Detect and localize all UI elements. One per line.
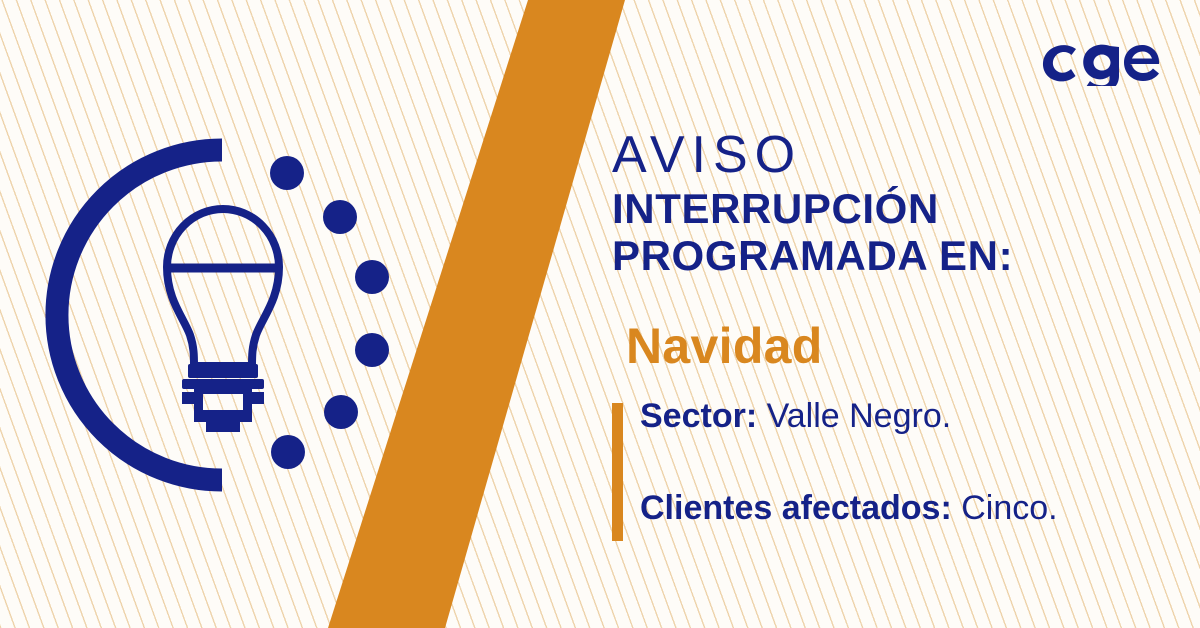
notice-headline-line2: PROGRAMADA EN: — [612, 232, 1182, 279]
detail-row-sector: Sector: Valle Negro. — [640, 399, 1182, 435]
detail-value-sector: Valle Negro. — [767, 397, 952, 435]
detail-label-clientes: Clientes afectados: — [640, 489, 952, 527]
signal-dots-icon — [270, 156, 389, 469]
notice-kicker: AVISO — [612, 130, 1182, 181]
light-bulb-base-icon — [182, 364, 264, 432]
detail-value-clientes: Cinco. — [961, 489, 1057, 527]
notice-headline-line1: INTERRUPCIÓN — [612, 185, 1182, 232]
details-accent-bar — [612, 403, 623, 541]
notice-location: Navidad — [626, 321, 1182, 371]
detail-row-clientes: Clientes afectados: Cinco. — [640, 491, 1182, 527]
notice-text-block: AVISO INTERRUPCIÓN PROGRAMADA EN: Navida… — [612, 130, 1182, 526]
open-arc-icon — [57, 150, 222, 480]
notice-details: Sector: Valle Negro. Clientes afectados:… — [612, 399, 1182, 526]
light-bulb-icon — [167, 209, 279, 366]
light-bulb-outage-icon — [30, 120, 430, 510]
power-outage-notice-poster: AVISO INTERRUPCIÓN PROGRAMADA EN: Navida… — [0, 0, 1200, 628]
cge-logo[interactable] — [1040, 34, 1162, 86]
detail-label-sector: Sector: — [640, 397, 757, 435]
